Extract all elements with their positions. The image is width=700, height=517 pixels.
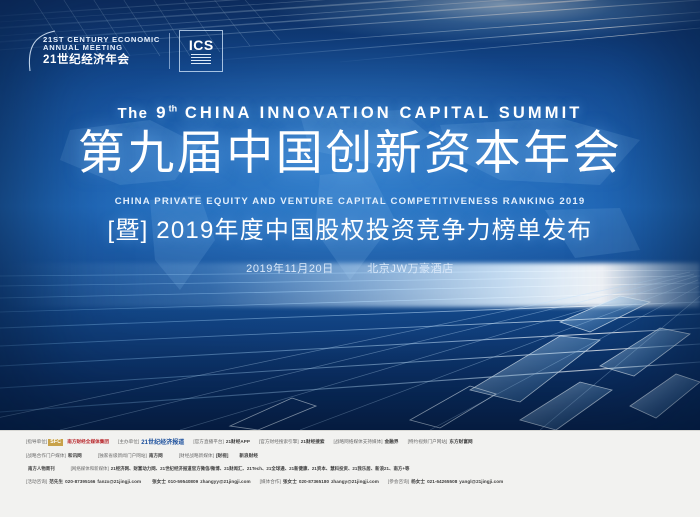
- ics-logo-text: ICS: [189, 38, 214, 52]
- ics-logo-bars: [191, 54, 211, 64]
- event-venue: 北京JW万豪酒店: [367, 263, 454, 275]
- footer-rows: [指导单位] SFC 南方财经全媒体集团 [主办单位] 21世纪经济报道 [官方…: [26, 435, 616, 489]
- footer-item: [官方直播平台] 21财经APP: [193, 440, 250, 445]
- footer-row-media-list: 南方人物周刊 [网络媒体和新媒体] 21经济网、财富动力网、21世纪经济报道官方…: [26, 463, 616, 476]
- contact-item: 张女士 010-59540809 zhangyy@21jingji.com: [150, 480, 251, 485]
- kicker-ordinal: 9: [156, 103, 169, 122]
- arc-icon: [25, 29, 59, 73]
- footer-value: 南方人物周刊: [28, 467, 55, 471]
- footer-row-media-partners: [战略合作门户媒体] 和讯网 [独家省级新闻门户网站] 南方网 [财经战略新媒体…: [26, 450, 616, 463]
- contact-name: 范先生: [49, 480, 63, 485]
- contact-name: 杨女士: [411, 480, 425, 485]
- perspective-grid: [0, 270, 700, 430]
- organizer-logo: 21ST CENTURY ECONOMIC ANNUAL MEETING 21世…: [25, 30, 160, 72]
- footer-item: [官方财经搜索引擎] 21财经搜索: [259, 440, 325, 445]
- footer-value: 和讯网: [68, 454, 82, 459]
- footer-tag: [特约视频门户网站]: [408, 440, 448, 445]
- main-title-cn: 第九届中国创新资本年会: [0, 125, 700, 180]
- contact-tag: [媒体合作]: [260, 480, 281, 485]
- footer-value: [财视]: [216, 454, 228, 459]
- key-visual-background: 21ST CENTURY ECONOMIC ANNUAL MEETING 21世…: [0, 0, 700, 430]
- footer-tag: [指导单位]: [26, 440, 47, 445]
- footer-value: 21财经搜索: [301, 440, 325, 445]
- contact-email[interactable]: yangl@21jingji.com: [459, 480, 503, 485]
- footer-value: 南方网: [149, 454, 163, 459]
- footer-item: [特约视频门户网站] 东方财富网: [408, 440, 473, 445]
- footer-tag: [官方直播平台]: [193, 440, 224, 445]
- footer-value: 南方财经全媒体集团: [67, 440, 109, 445]
- footer-tag: [财经战略新媒体]: [179, 454, 214, 459]
- footer-item: [独家省级新闻门户网站] 南方网: [98, 454, 163, 459]
- contact-phone[interactable]: 010-59540809: [168, 480, 198, 485]
- footer-value: 东方财富网: [449, 440, 472, 445]
- subtitle-en: CHINA PRIVATE EQUITY AND VENTURE CAPITAL…: [0, 196, 700, 207]
- subtitle-cn: [暨] 2019年度中国股权投资竞争力榜单发布: [0, 210, 700, 245]
- event-date: 2019年11月20日: [246, 263, 334, 275]
- footer-value: 金融界: [385, 440, 399, 445]
- footer-tag: [战略合作门户媒体]: [26, 454, 66, 459]
- conference-poster: 21ST CENTURY ECONOMIC ANNUAL MEETING 21世…: [0, 0, 700, 517]
- footer-tag: [独家省级新闻门户网站]: [98, 454, 147, 459]
- contact-email[interactable]: zhangy@21jingji.com: [331, 480, 379, 485]
- footer-item: [战略合作门户媒体] 和讯网: [26, 454, 82, 459]
- footer-item: [战略网络媒体支持媒体] 金融界: [334, 440, 399, 445]
- logo-line-2: ANNUAL MEETING: [43, 44, 160, 52]
- kicker-ordinal-suffix: th: [169, 104, 178, 114]
- contact-phone[interactable]: 020-87365180: [299, 480, 329, 485]
- ics-logo: ICS: [179, 30, 223, 72]
- contact-tag: [活动咨询]: [26, 480, 47, 485]
- footer-tag: [主办单位]: [118, 440, 139, 445]
- footer-item: [指导单位] SFC 南方财经全媒体集团: [26, 439, 109, 446]
- contact-item: [活动咨询] 范先生 020-87395166 fanzx@21jingji.c…: [26, 480, 141, 485]
- contact-email[interactable]: zhangyy@21jingji.com: [200, 480, 250, 485]
- footer-value: 21财经APP: [226, 440, 250, 445]
- footer-bar: [指导单位] SFC 南方财经全媒体集团 [主办单位] 21世纪经济报道 [官方…: [0, 430, 700, 517]
- logo-block: 21ST CENTURY ECONOMIC ANNUAL MEETING 21世…: [25, 30, 223, 72]
- contact-phone[interactable]: 021-64265508: [427, 480, 457, 485]
- contact-tag: [参会咨询]: [388, 480, 409, 485]
- footer-item: 新浪财经: [237, 454, 258, 459]
- footer-item: 南方人物周刊: [26, 467, 55, 471]
- contact-email[interactable]: fanzx@21jingji.com: [97, 480, 141, 485]
- contact-item: [媒体合作] 张女士 020-87365180 zhangy@21jingji.…: [260, 480, 379, 485]
- logo-line-3: 21世纪经济年会: [43, 54, 160, 66]
- kicker-the: The: [118, 105, 149, 122]
- event-meta: 2019年11月20日 北京JW万豪酒店: [0, 260, 700, 276]
- kicker-text: CHINA INNOVATION CAPITAL SUMMIT: [185, 104, 583, 122]
- footer-item: [主办单位] 21世纪经济报道: [118, 440, 184, 446]
- contact-item: [参会咨询] 杨女士 021-64265508 yangl@21jingji.c…: [388, 480, 503, 485]
- footer-row-contacts: [活动咨询] 范先生 020-87395166 fanzx@21jingji.c…: [26, 476, 616, 489]
- contact-phone[interactable]: 020-87395166: [65, 480, 95, 485]
- footer-row-sponsors: [指导单位] SFC 南方财经全媒体集团 [主办单位] 21世纪经济报道 [官方…: [26, 435, 616, 450]
- kicker-line: The 9th CHINA INNOVATION CAPITAL SUMMIT: [0, 103, 700, 123]
- contact-name: 张女士: [283, 480, 297, 485]
- footer-value: 新浪财经: [239, 454, 258, 459]
- footer-tag: [战略网络媒体支持媒体]: [334, 440, 383, 445]
- logo-divider: [169, 33, 170, 69]
- footer-value: 21世纪经济报道: [141, 440, 184, 446]
- footer-tag: [网络媒体和新媒体]: [71, 467, 109, 471]
- footer-tag: [官方财经搜索引擎]: [259, 440, 299, 445]
- footer-value: 21经济网、财富动力网、21世纪经济报道官方微信/微博、21财闻汇、21Tech…: [111, 467, 410, 471]
- sfc-logo-mark: SFC: [48, 439, 63, 446]
- footer-item: [财经战略新媒体] [财视]: [179, 454, 229, 459]
- footer-item: [网络媒体和新媒体] 21经济网、财富动力网、21世纪经济报道官方微信/微博、2…: [71, 467, 410, 471]
- contact-name: 张女士: [152, 480, 166, 485]
